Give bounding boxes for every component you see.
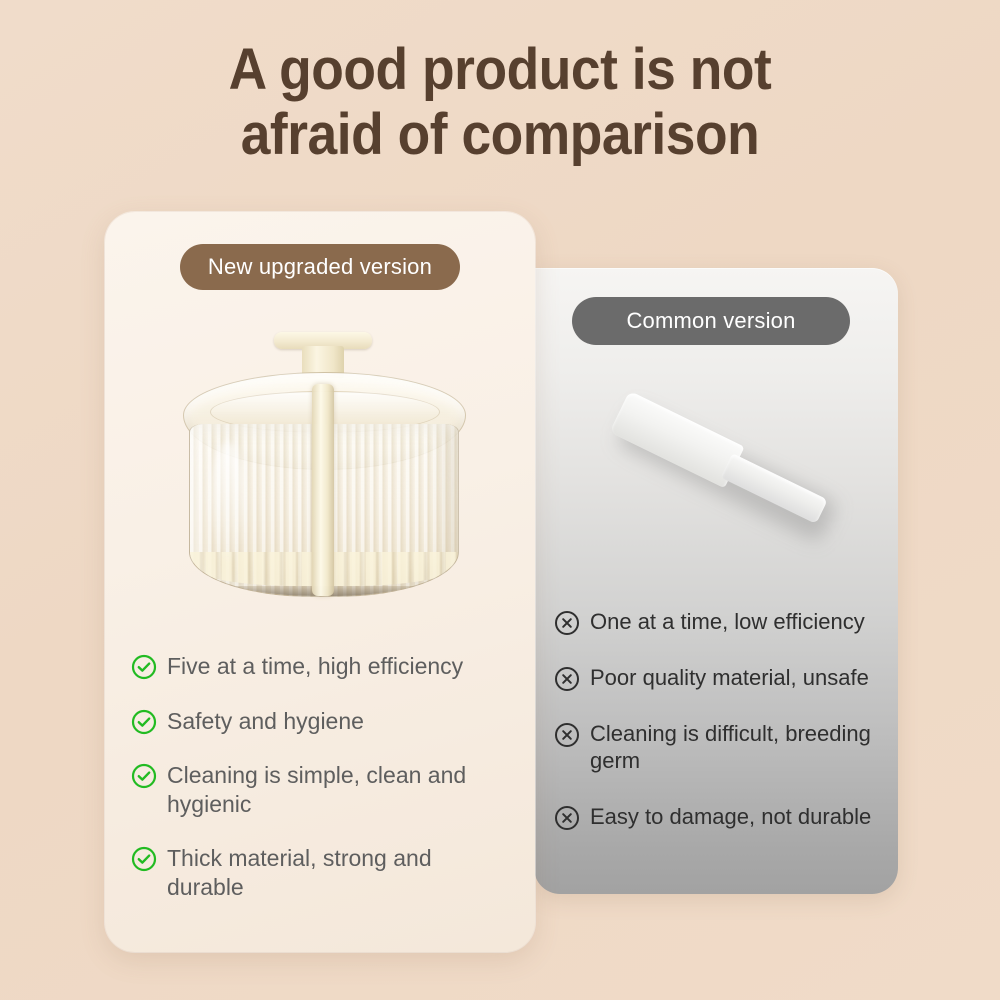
- new-version-badge-label: New upgraded version: [208, 254, 432, 280]
- page-title-line-2: afraid of comparison: [40, 103, 960, 168]
- jar-highlight: [211, 442, 245, 562]
- list-item-label: Poor quality material, unsafe: [590, 664, 869, 691]
- list-item-label: One at a time, low efficiency: [590, 608, 865, 635]
- list-item: Safety and hygiene: [131, 707, 535, 736]
- comparison-infographic: A good product is not afraid of comparis…: [0, 0, 1000, 1000]
- list-item-label: Five at a time, high efficiency: [167, 652, 463, 681]
- page-title: A good product is not afraid of comparis…: [40, 38, 960, 168]
- list-item-label: Cleaning is difficult, breeding germ: [590, 720, 880, 775]
- list-item-label: Thick material, strong and durable: [167, 844, 497, 901]
- page-title-line-1: A good product is not: [40, 38, 960, 103]
- check-circle-icon: [131, 654, 157, 680]
- list-item: Five at a time, high efficiency: [131, 652, 535, 681]
- cross-circle-icon: [554, 722, 580, 748]
- new-version-badge: New upgraded version: [180, 244, 460, 290]
- list-item: Poor quality material, unsafe: [554, 664, 898, 692]
- common-version-feature-list: One at a time, low efficiency Poor quali…: [534, 608, 898, 859]
- new-version-card: New upgraded version: [105, 212, 535, 952]
- common-product-image: [582, 366, 862, 576]
- list-item: Easy to damage, not durable: [554, 803, 898, 831]
- list-item: One at a time, low efficiency: [554, 608, 898, 636]
- cross-circle-icon: [554, 666, 580, 692]
- new-version-feature-list: Five at a time, high efficiency Safety a…: [105, 652, 535, 927]
- list-item-label: Easy to damage, not durable: [590, 803, 871, 830]
- cross-circle-icon: [554, 805, 580, 831]
- cross-circle-icon: [554, 610, 580, 636]
- list-item: Cleaning is difficult, breeding germ: [554, 720, 898, 775]
- list-item: Cleaning is simple, clean and hygienic: [131, 761, 535, 818]
- common-version-card: Common version One at a time, low effici…: [534, 268, 898, 894]
- list-item-label: Safety and hygiene: [167, 707, 364, 736]
- check-circle-icon: [131, 846, 157, 872]
- plastic-stick-icon: [609, 391, 832, 531]
- check-circle-icon: [131, 709, 157, 735]
- common-version-badge: Common version: [572, 297, 850, 345]
- check-circle-icon: [131, 763, 157, 789]
- list-item: Thick material, strong and durable: [131, 844, 535, 901]
- new-product-image: [181, 332, 466, 597]
- list-item-label: Cleaning is simple, clean and hygienic: [167, 761, 497, 818]
- jar-center-stem: [312, 384, 334, 596]
- common-version-badge-label: Common version: [626, 308, 795, 334]
